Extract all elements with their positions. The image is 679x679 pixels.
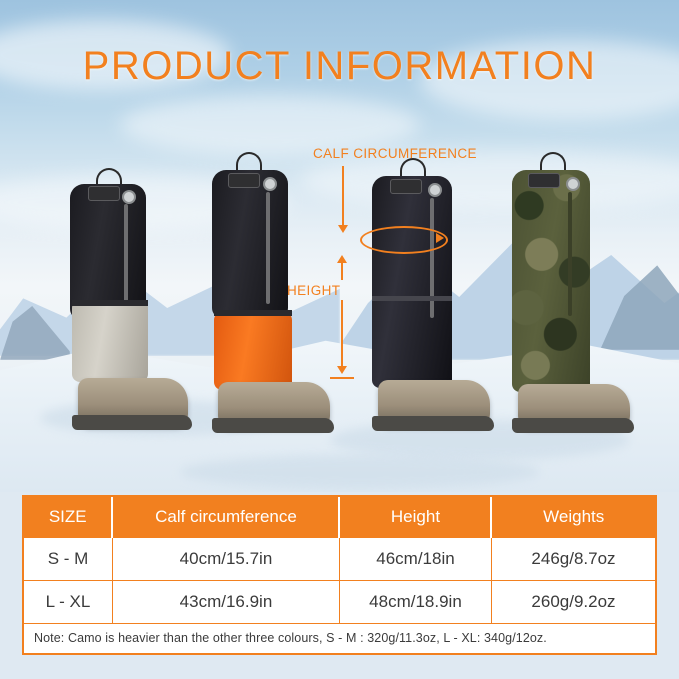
product-information-page: PRODUCT INFORMATION bbox=[0, 0, 679, 679]
lace-eyelet bbox=[122, 190, 136, 204]
elastic-band bbox=[372, 296, 452, 301]
table-row: L - XL 43cm/16.9in 48cm/18.9in 260g/9.2o… bbox=[24, 581, 655, 624]
table-header-row: SIZE Calf circumference Height Weights bbox=[24, 497, 655, 538]
boot-sole bbox=[512, 418, 634, 433]
calf-circumference-ring bbox=[360, 226, 448, 254]
page-title: PRODUCT INFORMATION bbox=[0, 44, 679, 89]
gaiter-shell-camo bbox=[512, 170, 590, 392]
gaiter-lower-shell bbox=[72, 300, 148, 382]
cell-weight: 246g/8.7oz bbox=[491, 538, 655, 581]
top-buckle bbox=[88, 186, 120, 201]
gaiter-upper-shell bbox=[70, 184, 146, 319]
cell-size: S - M bbox=[24, 538, 112, 581]
top-buckle bbox=[390, 179, 422, 194]
cell-calf: 40cm/15.7in bbox=[112, 538, 339, 581]
pull-cord bbox=[400, 158, 426, 178]
cell-height: 46cm/18in bbox=[339, 538, 491, 581]
zipper bbox=[266, 192, 270, 304]
height-arrow-head-down bbox=[337, 366, 347, 374]
lace-eyelet bbox=[263, 177, 277, 191]
cell-weight: 260g/9.2oz bbox=[491, 581, 655, 624]
pull-cord bbox=[540, 152, 566, 172]
top-buckle bbox=[228, 173, 260, 188]
elastic-band bbox=[72, 300, 148, 306]
elastic-band bbox=[214, 310, 292, 316]
cell-size: L - XL bbox=[24, 581, 112, 624]
gaiter-shell bbox=[372, 176, 452, 388]
gaiter-upper-shell bbox=[212, 170, 288, 318]
boot-sole bbox=[212, 418, 334, 433]
snow-shadow bbox=[180, 455, 540, 489]
top-buckle bbox=[528, 173, 560, 188]
calf-ring-arrow-head bbox=[436, 233, 444, 243]
cell-height: 48cm/18.9in bbox=[339, 581, 491, 624]
gaiter-lower-shell bbox=[214, 312, 292, 390]
table-note: Note: Camo is heavier than the other thr… bbox=[24, 623, 655, 653]
calf-arrow-head bbox=[338, 225, 348, 233]
table-row: S - M 40cm/15.7in 46cm/18in 246g/8.7oz bbox=[24, 538, 655, 581]
table-header-size: SIZE bbox=[24, 497, 112, 538]
height-line-upper bbox=[341, 262, 343, 280]
lace-eyelet bbox=[566, 177, 580, 191]
table-header-height: Height bbox=[339, 497, 491, 538]
height-label: HEIGHT bbox=[287, 283, 340, 298]
specification-table: SIZE Calf circumference Height Weights S… bbox=[22, 495, 657, 655]
height-baseline bbox=[330, 377, 354, 379]
height-line-lower bbox=[341, 300, 343, 368]
calf-leader-line bbox=[342, 166, 344, 226]
calf-circumference-label: CALF CIRCUMFERENCE bbox=[313, 146, 477, 161]
cell-calf: 43cm/16.9in bbox=[112, 581, 339, 624]
boot-sole bbox=[72, 415, 192, 430]
boot-sole bbox=[372, 416, 494, 431]
table-header-calf: Calf circumference bbox=[112, 497, 339, 538]
lace-eyelet bbox=[428, 183, 442, 197]
height-arrow-head-up bbox=[337, 255, 347, 263]
zipper bbox=[124, 204, 128, 304]
table-header-weights: Weights bbox=[491, 497, 655, 538]
pull-cord bbox=[236, 152, 262, 172]
zipper bbox=[568, 192, 572, 316]
